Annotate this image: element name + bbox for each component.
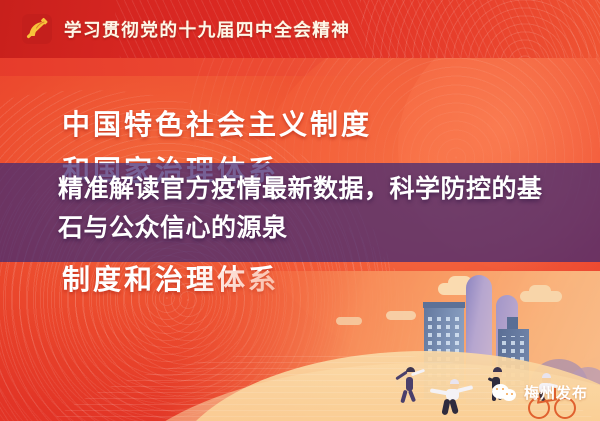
- top-banner: 学习贯彻党的十九届四中全会精神: [0, 0, 600, 58]
- hammer-and-sickle-icon: [22, 14, 52, 44]
- caption-text: 精准解读官方疫情最新数据，科学防控的基石与公众信心的源泉: [58, 169, 558, 247]
- banner-title: 学习贯彻党的十九届四中全会精神: [64, 17, 351, 42]
- cloud-icon: [386, 311, 416, 320]
- watermark-label: 梅州发布: [524, 382, 588, 403]
- poster-headline-line-1: 中国特色社会主义制度: [62, 102, 532, 148]
- poster-image: 学习贯彻党的十九届四中全会精神 中国特色社会主义制度 和国家治理体系 制度和治理…: [0, 0, 600, 421]
- banner-arc-texture: [360, 0, 600, 58]
- cloud-icon: [520, 291, 562, 302]
- poster-headline-group: 中国特色社会主义制度 和国家治理体系 制度和治理体系: [62, 102, 532, 148]
- wechat-icon: [492, 383, 518, 403]
- cloud-icon: [336, 317, 362, 325]
- watermark: 梅州发布: [492, 382, 588, 403]
